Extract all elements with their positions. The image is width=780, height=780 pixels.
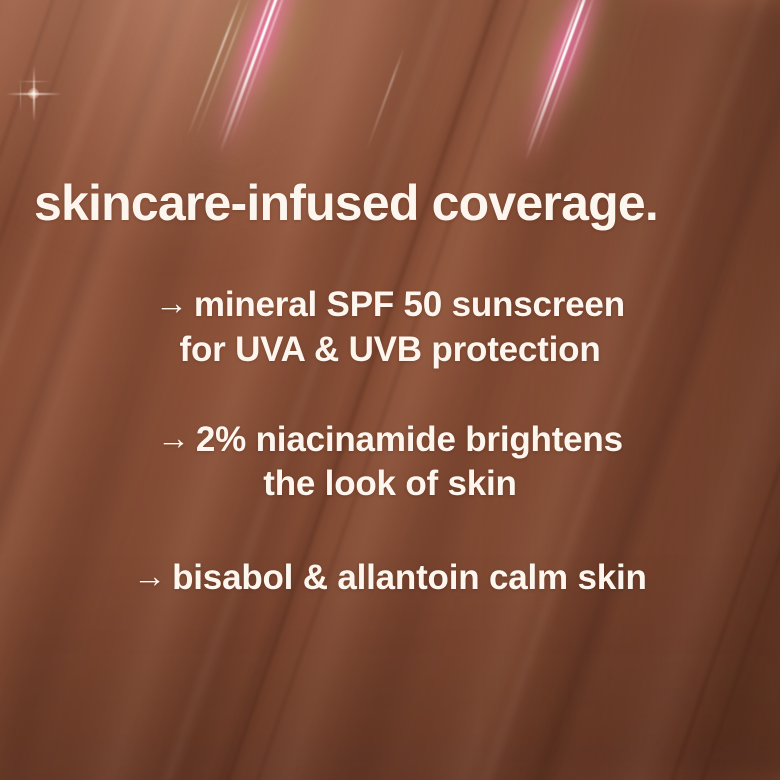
page-title: skincare-infused coverage. bbox=[34, 178, 658, 228]
marketing-graphic: skincare-infused coverage. →mineral SPF … bbox=[0, 0, 780, 780]
list-item: →2% niacinamide brightens the look of sk… bbox=[0, 417, 780, 508]
right-arrow-icon: → bbox=[155, 282, 194, 324]
list-item-line2: the look of skin bbox=[0, 462, 780, 507]
list-item-line1: mineral SPF 50 sunscreen bbox=[194, 285, 625, 324]
list-item: →mineral SPF 50 sunscreen for UVA & UVB … bbox=[0, 282, 780, 373]
right-arrow-icon: → bbox=[133, 555, 172, 597]
text-content: skincare-infused coverage. →mineral SPF … bbox=[0, 0, 780, 780]
right-arrow-icon: → bbox=[157, 417, 196, 459]
benefit-list: →mineral SPF 50 sunscreen for UVA & UVB … bbox=[0, 282, 780, 601]
list-item-line1: 2% niacinamide brightens bbox=[196, 420, 623, 459]
list-item-line2: for UVA & UVB protection bbox=[0, 328, 780, 373]
list-item-line1: bisabol & allantoin calm skin bbox=[172, 558, 647, 597]
list-item: →bisabol & allantoin calm skin bbox=[0, 555, 780, 601]
